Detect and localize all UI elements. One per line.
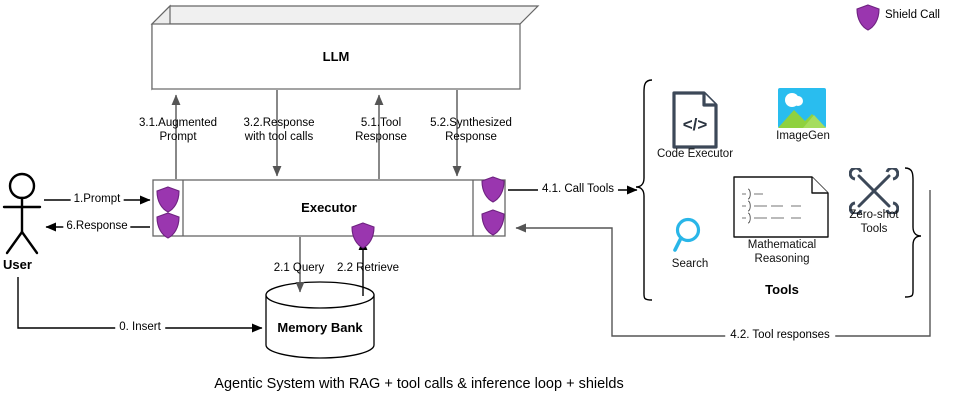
shield-legend-icon <box>857 5 879 30</box>
diagram-canvas: LLM Executor Memory Bank User Tools 3.1.… <box>0 0 970 411</box>
shield-executor-left-top[interactable] <box>157 187 179 212</box>
shield-executor-right-bottom[interactable] <box>482 210 504 235</box>
shields-layer <box>0 0 970 411</box>
shield-executor-right-top[interactable] <box>482 177 504 202</box>
legend-shield-call-label: Shield Call <box>885 9 940 23</box>
shield-executor-bottom-center[interactable] <box>352 223 374 248</box>
shield-executor-left-bottom[interactable] <box>157 213 179 238</box>
diagram-caption: Agentic System with RAG + tool calls & i… <box>214 376 623 392</box>
